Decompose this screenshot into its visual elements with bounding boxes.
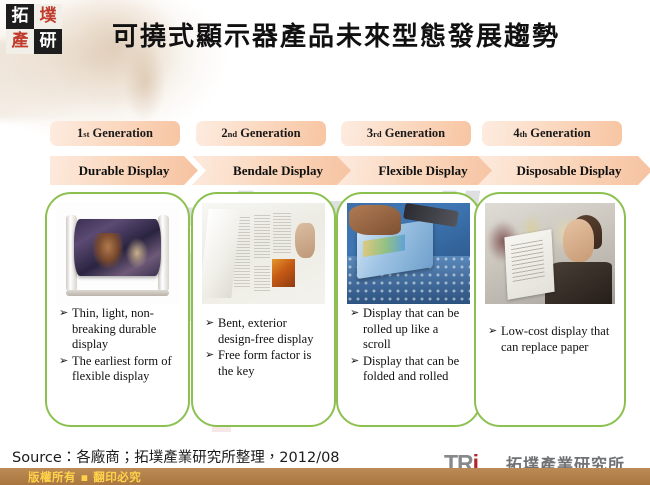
logo-char-3: 產 xyxy=(6,29,34,54)
display-name-arrow-2: Bendale Display xyxy=(192,156,356,185)
logo-char-2: 墣 xyxy=(34,4,62,29)
generation-word-2: Generation xyxy=(240,126,300,141)
bullet-arrow-icon: ➢ xyxy=(59,354,68,370)
source-line: Source：各廠商；拓墣產業研究所整理，2012/08 xyxy=(12,446,340,467)
bullet-text: The earliest form of flexible display xyxy=(72,354,172,384)
bullet-arrow-icon: ➢ xyxy=(59,306,68,322)
bullet-list-2: ➢ Bent, exterior design-free display ➢ F… xyxy=(205,316,324,380)
page-title: 可撓式顯示器產品未來型態發展趨勢 xyxy=(112,16,632,53)
bullet-arrow-icon: ➢ xyxy=(488,324,497,340)
bullet-arrow-icon: ➢ xyxy=(205,348,214,364)
display-name-arrow-1: Durable Display xyxy=(50,156,198,185)
tri-corner-logo: 拓 墣 產 研 xyxy=(6,4,62,54)
bullet-text: Display that can be folded and rolled xyxy=(363,354,459,384)
bullet-arrow-icon: ➢ xyxy=(205,316,214,332)
bullet-arrow-icon: ➢ xyxy=(350,354,359,370)
generation-word-1: Generation xyxy=(93,126,153,141)
generation-image-3 xyxy=(347,203,470,304)
generation-panel-2: ➢ Bent, exterior design-free display ➢ F… xyxy=(191,192,336,427)
bullet-item: ➢ Display that can be folded and rolled xyxy=(350,354,469,385)
generation-number-2: 2 xyxy=(221,126,227,141)
generation-number-4: 4 xyxy=(513,126,519,141)
generation-pill-2: 2nd Generation xyxy=(196,121,326,146)
generation-panel-4: ➢ Low-cost display that can replace pape… xyxy=(474,192,626,427)
bullet-list-1: ➢ Thin, light, non-breaking durable disp… xyxy=(59,306,178,386)
display-name-label-3: Flexible Display xyxy=(378,163,467,179)
display-name-label-4: Disposable Display xyxy=(516,163,621,179)
bullet-text: Bent, exterior design-free display xyxy=(218,316,313,346)
bullet-item: ➢ Bent, exterior design-free display xyxy=(205,316,324,347)
bullet-text: Display that can be rolled up like a scr… xyxy=(363,306,459,351)
copyright-bar: 版權所有 ▪ 翻印必究 xyxy=(0,468,650,485)
logo-char-4: 研 xyxy=(34,29,62,54)
display-name-arrow-3: Flexible Display xyxy=(337,156,501,185)
bullet-text: Low-cost display that can replace paper xyxy=(501,324,609,354)
copyright-text: 版權所有 ▪ 翻印必究 xyxy=(28,469,141,485)
bullet-item: ➢ Thin, light, non-breaking durable disp… xyxy=(59,306,178,353)
bullet-item: ➢ The earliest form of flexible display xyxy=(59,354,178,385)
bullet-text: Thin, light, non-breaking durable displa… xyxy=(72,306,156,351)
bullet-text: Free form factor is the key xyxy=(218,348,311,378)
generation-pill-3: 3rd Generation xyxy=(341,121,471,146)
generation-pill-4: 4th Generation xyxy=(482,121,622,146)
bullet-list-4: ➢ Low-cost display that can replace pape… xyxy=(488,324,614,356)
generation-image-1 xyxy=(56,203,179,304)
generation-pill-1: 1st Generation xyxy=(50,121,180,146)
generation-panel-1: ➢ Thin, light, non-breaking durable disp… xyxy=(45,192,190,427)
bullet-item: ➢ Display that can be rolled up like a s… xyxy=(350,306,469,353)
bullet-item: ➢ Low-cost display that can replace pape… xyxy=(488,324,614,355)
generation-image-4 xyxy=(485,203,615,304)
logo-char-1: 拓 xyxy=(6,4,34,29)
display-name-arrow-4: Disposable Display xyxy=(478,156,650,185)
bullet-item: ➢ Free form factor is the key xyxy=(205,348,324,379)
display-name-label-2: Bendale Display xyxy=(233,163,323,179)
bullet-arrow-icon: ➢ xyxy=(350,306,359,322)
slide-canvas: TRI 拓墣 拓 墣 產 研 可撓式顯示器產品未來型態發展趨勢 1st Gene… xyxy=(0,0,650,485)
generation-word-4: Generation xyxy=(530,126,590,141)
display-name-label-1: Durable Display xyxy=(79,163,170,179)
generation-panel-3: ➢ Display that can be rolled up like a s… xyxy=(336,192,481,427)
bullet-list-3: ➢ Display that can be rolled up like a s… xyxy=(350,306,469,386)
generation-image-2 xyxy=(202,203,325,304)
generation-word-3: Generation xyxy=(385,126,445,141)
